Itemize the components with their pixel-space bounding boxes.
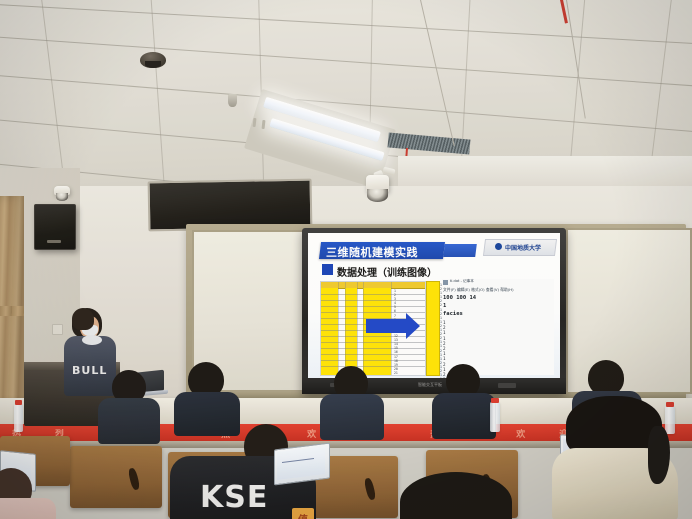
excel-output-column bbox=[426, 281, 440, 376]
notepad-line-dims: 100 100 14 bbox=[443, 295, 476, 301]
laptop-screen[interactable] bbox=[277, 446, 325, 480]
slide-title: 三维随机建模实践 bbox=[326, 244, 418, 260]
window-curtain bbox=[0, 196, 24, 412]
notepad-screenshot: ti.dat - 记事本 文件(F) 编辑(E) 格式(O) 查看(V) 帮助(… bbox=[442, 279, 554, 375]
water-bottle-3[interactable] bbox=[665, 406, 675, 434]
slide-title-tail bbox=[443, 244, 477, 257]
excel-highlight-col-2 bbox=[345, 288, 357, 375]
wall-speaker bbox=[34, 204, 76, 250]
sprinkler-head-icon-1 bbox=[228, 94, 237, 107]
notepad-values: 1 2 1 1 2 2 1 1 2 1 2 1 1 2 2 1 2 1 1 2 … bbox=[443, 320, 446, 378]
chair-handle-slot bbox=[127, 467, 140, 490]
attendee-torso bbox=[174, 392, 240, 436]
attendee-torso bbox=[432, 393, 496, 439]
university-logo-text: 中国地质大学 bbox=[505, 243, 541, 252]
water-bottle-1[interactable] bbox=[14, 404, 23, 432]
subtitle-bullet-icon bbox=[322, 264, 333, 275]
notepad-line-count: 1 bbox=[443, 303, 446, 309]
bottle-cap-3 bbox=[666, 402, 674, 407]
display-brand-label: 智能交互平板 bbox=[418, 382, 442, 388]
whiteboard-panel-right[interactable] bbox=[566, 228, 692, 394]
presentation-slide: 三维随机建模实践 中国地质大学 数据处理（训练图像） bbox=[308, 233, 560, 378]
water-bottle-2[interactable] bbox=[490, 402, 500, 432]
chair-handle-slot bbox=[363, 477, 376, 500]
attendee-torso bbox=[98, 398, 160, 444]
notepad-line-facies: facies bbox=[443, 311, 463, 317]
chair-1[interactable] bbox=[70, 446, 162, 508]
presenter-hair-front bbox=[72, 308, 94, 330]
ceiling-dome-camera-icon bbox=[140, 52, 166, 68]
arrow-head-icon bbox=[406, 313, 420, 339]
presenter-sweatshirt-logo: BULL bbox=[72, 364, 107, 377]
university-logo-mark-icon bbox=[495, 243, 502, 250]
camera-dome bbox=[367, 189, 388, 202]
interactive-display-screen[interactable]: 三维随机建模实践 中国地质大学 数据处理（训练图像） bbox=[308, 233, 560, 378]
presenter-collar bbox=[82, 335, 102, 345]
notepad-menubar[interactable]: 文件(F) 编辑(E) 格式(O) 查看(V) 帮助(H) bbox=[443, 287, 514, 293]
display-power-indicator[interactable] bbox=[498, 383, 516, 388]
bottle-cap-1 bbox=[15, 400, 22, 405]
notepad-titlebar: ti.dat - 记事本 bbox=[450, 279, 474, 284]
curtain-hem bbox=[0, 306, 24, 316]
notepad-app-icon bbox=[443, 280, 448, 285]
classroom-photo: 三维随机建模实践 中国地质大学 数据处理（训练图像） bbox=[0, 0, 692, 519]
student-jacket-logo: KSE bbox=[200, 480, 268, 515]
arrow-shaft bbox=[366, 319, 406, 333]
camera-dome-left bbox=[56, 193, 68, 201]
wall-outlet bbox=[52, 324, 63, 335]
bottle-cap-2 bbox=[491, 398, 499, 403]
speaker-brand-badge bbox=[47, 240, 61, 243]
foreground-torso bbox=[0, 498, 56, 519]
excel-highlight-col-1 bbox=[321, 288, 338, 375]
armband-text: 值 bbox=[298, 511, 308, 519]
slide-subtitle: 数据处理（训练图像） bbox=[337, 264, 437, 279]
attendee-torso bbox=[320, 394, 384, 440]
